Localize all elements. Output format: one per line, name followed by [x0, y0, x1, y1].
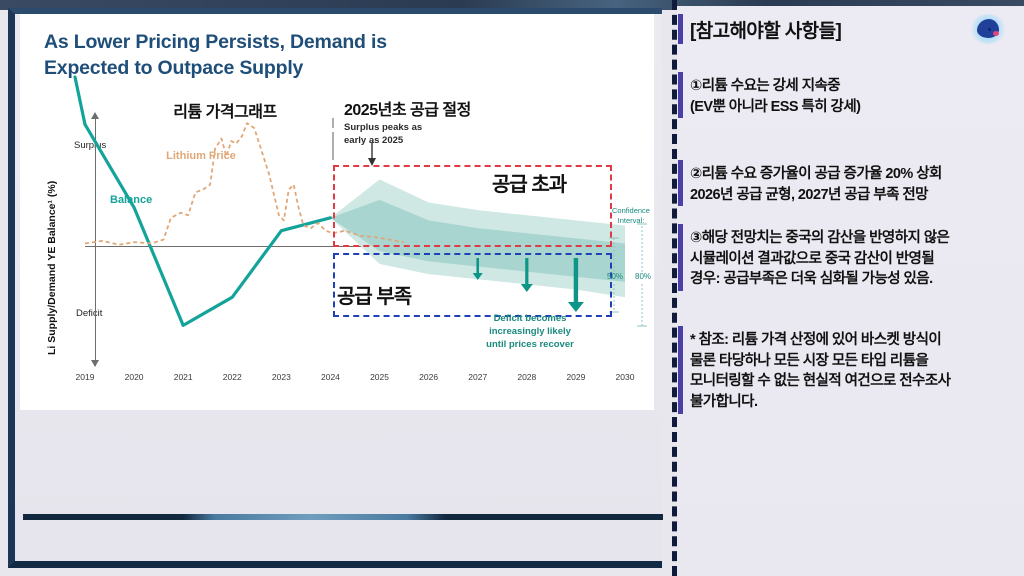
balance-line-start [75, 77, 85, 124]
panel-bottom-edge [23, 514, 663, 520]
ci-50-label: 50% [607, 272, 623, 281]
logo-eye [988, 28, 991, 31]
ci-title-line1: Confidence [602, 206, 660, 216]
note-line: 경우: 공급부족은 더욱 심화될 가능성 있음. [690, 269, 1020, 290]
note-accent-bar [678, 326, 683, 414]
blue-blob-logo-icon [970, 14, 1006, 44]
note-line: 모니터링할 수 없는 현실적 여건으로 전수조사 [690, 371, 1020, 392]
note-line: 물론 타당하나 모든 시장 모든 타입 리튬을 [690, 351, 1020, 372]
ci-title-line2: Interval: [602, 216, 660, 226]
note-accent-bar [678, 72, 683, 118]
deficit-annotation-line1: Deficit becomes [455, 313, 605, 326]
note-accent-bar [678, 160, 683, 206]
deficit-annotation-line2: increasingly likely [455, 326, 605, 339]
note-line: ③해당 전망치는 중국의 감산을 반영하지 않은 [690, 228, 1020, 249]
note-accent-bar [678, 224, 683, 291]
notes-heading-accent-bar [678, 14, 683, 44]
surplus-region-box [333, 165, 612, 247]
logo-blob-shape [977, 19, 999, 38]
note-line: ①리튬 수요는 강세 지속중 [690, 76, 1020, 97]
note-line: 2026년 공급 균형, 2027년 공급 부족 전망 [690, 185, 1020, 206]
confidence-interval-title: Confidence Interval: [602, 206, 660, 226]
note-item: ②리튬 수요 증가율이 공급 증가율 20% 상회2026년 공급 균형, 20… [690, 164, 1020, 205]
ci-80-label: 80% [635, 272, 651, 281]
lithium-label-line1: Lithium Price [165, 150, 237, 164]
note-line: 불가합니다. [690, 392, 1020, 413]
deficit-annotation-line3: until prices recover [455, 339, 605, 352]
slide-root: As Lower Pricing Persists, Demand is Exp… [0, 0, 1024, 576]
note-item: * 참조: 리튬 가격 산정에 있어 바스켓 방식이물론 타당하나 모든 시장 … [690, 330, 1020, 413]
deficit-annotation: Deficit becomes increasingly likely unti… [455, 313, 605, 351]
note-line: ②리튬 수요 증가율이 공급 증가율 20% 상회 [690, 164, 1020, 185]
lithium-price-series-label: Lithium Price [165, 150, 237, 164]
logo-cheek [993, 31, 999, 36]
surplus-region-label: 공급 초과 [492, 168, 566, 197]
note-line: (EV뿐 아니라 ESS 특히 강세) [690, 97, 1020, 118]
balance-series-label: Balance [110, 194, 152, 206]
note-item: ③해당 전망치는 중국의 감산을 반영하지 않은시뮬레이션 결과값으로 중국 감… [690, 228, 1020, 290]
note-item: ①리튬 수요는 강세 지속중(EV뿐 아니라 ESS 특히 강세) [690, 76, 1020, 117]
deficit-region-label: 공급 부족 [337, 280, 411, 309]
note-line: * 참조: 리튬 가격 산정에 있어 바스켓 방식이 [690, 330, 1020, 351]
note-line: 시뮬레이션 결과값으로 중국 감산이 반영될 [690, 249, 1020, 270]
notes-heading: [참고해야할 사항들] [690, 16, 841, 43]
